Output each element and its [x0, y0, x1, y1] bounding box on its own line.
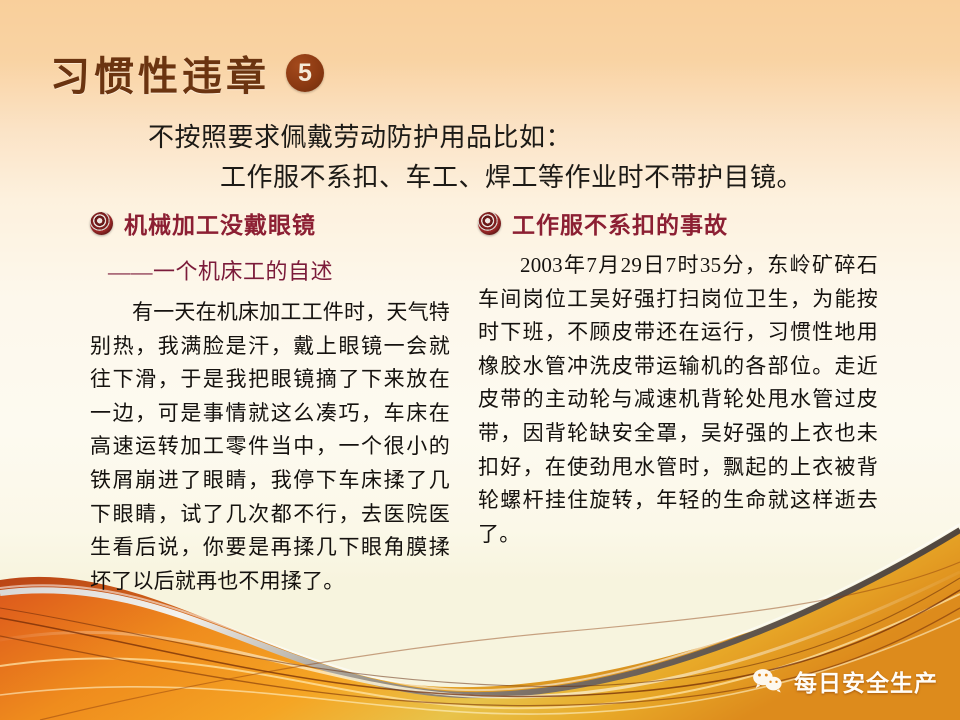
subtitle-line-2: 工作服不系扣、车工、焊工等作业时不带护目镜。	[148, 158, 938, 198]
subtitle-line-1: 不按照要求佩戴劳动防护用品比如：	[148, 118, 938, 158]
title-number-badge: 5	[286, 54, 324, 92]
slide-title-row: 习惯性违章 5	[50, 44, 324, 102]
left-column-body: 有一天在机床加工工件时，天气特别热，我满脸是汗，戴上眼镜一会就往下滑，于是我把眼…	[90, 296, 450, 598]
content-columns: 机械加工没戴眼镜 ——一个机床工的自述 有一天在机床加工工件时，天气特别热，我满…	[0, 206, 960, 626]
left-column-subheading: ——一个机床工的自述	[108, 254, 450, 286]
slide-subtitle: 不按照要求佩戴劳动防护用品比如： 工作服不系扣、车工、焊工等作业时不带护目镜。	[148, 118, 938, 197]
right-column-heading: 工作服不系扣的事故	[512, 206, 728, 240]
spiral-bullet-icon	[478, 212, 501, 235]
wechat-icon	[751, 667, 785, 695]
page-title: 习惯性违章	[50, 44, 270, 102]
left-column: 机械加工没戴眼镜 ——一个机床工的自述 有一天在机床加工工件时，天气特别热，我满…	[90, 206, 450, 598]
right-column: 工作服不系扣的事故 2003年7月29日7时35分，东岭矿碎石车间岗位工吴好强打…	[478, 206, 878, 551]
spiral-bullet-icon	[90, 212, 113, 235]
left-column-heading: 机械加工没戴眼镜	[124, 206, 316, 240]
watermark-text: 每日安全生产	[794, 664, 938, 698]
right-column-body: 2003年7月29日7时35分，东岭矿碎石车间岗位工吴好强打扫岗位卫生，为能按时…	[478, 249, 878, 551]
presentation-slide: 习惯性违章 5 不按照要求佩戴劳动防护用品比如： 工作服不系扣、车工、焊工等作业…	[0, 0, 960, 720]
wechat-watermark: 每日安全生产	[751, 664, 938, 698]
left-column-heading-row: 机械加工没戴眼镜	[90, 206, 450, 240]
right-column-heading-row: 工作服不系扣的事故	[478, 206, 878, 240]
